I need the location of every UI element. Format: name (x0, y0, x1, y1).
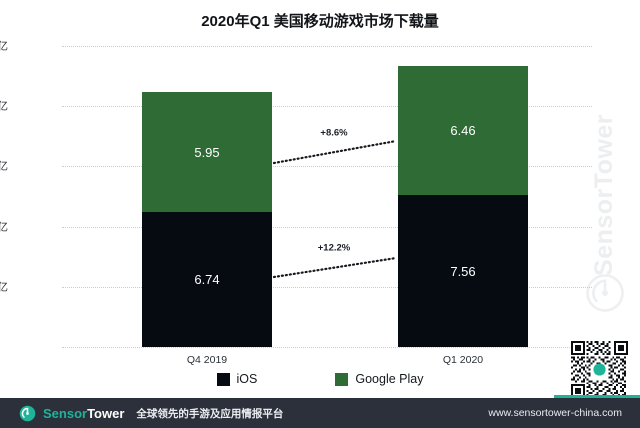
gridline-0 (62, 347, 592, 348)
xtick-label-q1-2020: Q1 2020 (398, 354, 528, 366)
chart-legend: iOS Google Play (0, 372, 640, 386)
bar-value-ios-q1-2020: 7.56 (450, 264, 475, 279)
chart-title: 2020年Q1 美国移动游戏市场下载量 (0, 10, 640, 31)
bar-value-ios-q4-2019: 6.74 (194, 272, 219, 287)
qr-code-icon[interactable] (571, 341, 628, 398)
footer-tagline: 全球领先的手游及应用情报平台 (136, 406, 283, 421)
ytick-label-3: 3亿 (0, 279, 8, 294)
bar-segment-google-play-q1-2020[interactable]: 6.46 (398, 66, 528, 196)
watermark-text: SensorTower (590, 86, 630, 276)
ytick-label-6: 6亿 (0, 219, 8, 234)
legend-item-ios[interactable]: iOS (217, 372, 258, 386)
bar-value-google-play-q4-2019: 5.95 (194, 145, 219, 160)
footer-brand-name: SensorTower (43, 406, 124, 421)
chart-page: 2020年Q1 美国移动游戏市场下载量 SensorTower 15亿 12亿 … (0, 0, 640, 428)
bar-segment-ios-q1-2020[interactable]: 7.56 (398, 195, 528, 347)
ytick-label-12: 12亿 (0, 99, 8, 114)
legend-swatch-ios-icon (217, 373, 230, 386)
legend-label-google-play: Google Play (355, 372, 423, 386)
legend-swatch-google-play-icon (335, 373, 348, 386)
footer-brand-sensor: Sensor (43, 406, 87, 421)
footer-brand-tower: Tower (87, 406, 124, 421)
legend-label-ios: iOS (237, 372, 258, 386)
ytick-label-9: 9亿 (0, 159, 8, 174)
footer-url[interactable]: www.sensortower-china.com (488, 407, 622, 419)
legend-item-google-play[interactable]: Google Play (335, 372, 423, 386)
bar-value-google-play-q1-2020: 6.46 (450, 123, 475, 138)
gridline-15 (62, 46, 592, 47)
plot-area: 15亿 12亿 9亿 6亿 3亿 6.74 5.95 7.56 6.46 (62, 46, 592, 347)
footer-bar: SensorTower 全球领先的手游及应用情报平台 www.sensortow… (0, 398, 640, 428)
xtick-label-q4-2019: Q4 2019 (142, 354, 272, 366)
bar-segment-ios-q4-2019[interactable]: 6.74 (142, 212, 272, 347)
bar-group-q4-2019[interactable]: 6.74 5.95 (142, 92, 272, 347)
bar-segment-google-play-q4-2019[interactable]: 5.95 (142, 92, 272, 211)
ytick-label-15: 15亿 (0, 39, 8, 54)
bar-group-q1-2020[interactable]: 7.56 6.46 (398, 66, 528, 347)
footer-branding: SensorTower 全球领先的手游及应用情报平台 (19, 405, 283, 422)
footer-logo-icon (19, 405, 36, 422)
